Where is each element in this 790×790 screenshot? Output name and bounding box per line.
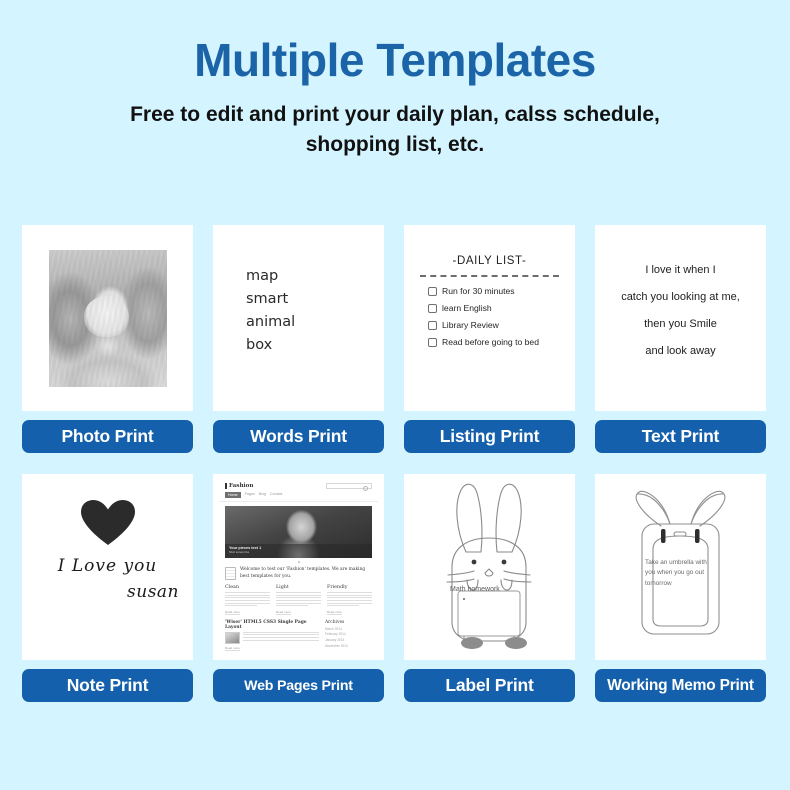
template-cell-working-memo-print: Take an umbrella with you when you go ou… [595,474,766,702]
photo-frame [39,242,176,394]
webpage-bottom-section: 'Wiser' HTML5 CSS3 Single Page Layout Re… [225,620,372,651]
webpage-bottom-heading: 'Wiser' HTML5 CSS3 Single Page Layout [225,620,319,630]
webpage-search-input[interactable] [326,483,372,489]
webpage-logo: Fashion [225,483,253,489]
webpage-bottom-article: 'Wiser' HTML5 CSS3 Single Page Layout Re… [225,620,319,651]
quote-line: then you Smile [603,311,758,338]
preview-card-listing-print[interactable]: -DAILY LIST- Run for 30 minutes learn En… [404,225,575,411]
word-item: smart [246,288,295,311]
listing-print-button[interactable]: Listing Print [404,420,575,453]
template-cell-words-print: map smart animal box Words Print [213,225,384,453]
note-line-1: I Love you [22,556,193,576]
webpage-archive-item[interactable]: March 2014 [325,627,372,631]
preview-card-text-print[interactable]: I love it when I catch you looking at me… [595,225,766,411]
checklist-item-label: Library Review [442,320,499,330]
photo-print-button[interactable]: Photo Print [22,420,193,453]
working-memo-print-button[interactable]: Working Memo Print [595,669,766,702]
webpage-text-placeholder [276,592,321,606]
subtitle-line-1: Free to edit and print your daily plan, … [45,100,745,130]
webpage-feature-heading: Light [276,585,321,590]
webpage-feature-heading: Clean [225,585,270,590]
web-pages-print-button[interactable]: Web Pages Print [213,669,384,702]
webpage-archives: Archives March 2014 February 2014 Januar… [325,620,372,651]
webpage-feature-columns: Clean Read more Light Read more Friendly [225,585,372,615]
daily-list: -DAILY LIST- Run for 30 minutes learn En… [416,255,563,354]
bunny-outline-icon [404,647,575,660]
template-cell-listing-print: -DAILY LIST- Run for 30 minutes learn En… [404,225,575,453]
quote-text: I love it when I catch you looking at me… [603,257,758,365]
webpage-nav-item[interactable]: Home [225,492,241,498]
webpage-text-placeholder [225,592,270,606]
preview-card-words-print[interactable]: map smart animal box [213,225,384,411]
note-print-button[interactable]: Note Print [22,669,193,702]
webpage-article-thumbnail [225,632,240,644]
webpage-text-placeholder [243,632,319,644]
checkbox-icon[interactable] [428,304,437,313]
webpage-hero-title: Your pieces text 1 [229,546,368,550]
checklist-item[interactable]: Read before going to bed [428,337,563,347]
webpage-archives-heading: Archives [325,620,372,625]
webpage-welcome-text: Welcome to test our 'Fashion' templates.… [240,567,372,580]
webpage-text-placeholder [327,592,372,606]
webpage-feature-heading: Friendly [327,585,372,590]
template-cell-label-print: Math homework Label Print [404,474,575,702]
label-text: Math homework [450,586,500,593]
preview-card-working-memo-print[interactable]: Take an umbrella with you when you go ou… [595,474,766,660]
word-item: box [246,334,295,357]
word-item: animal [246,311,295,334]
webpage-nav-item[interactable]: Pages [245,492,255,498]
webpage-read-more-link[interactable]: Read more [225,610,240,615]
quote-line: I love it when I [603,257,758,284]
template-cell-text-print: I love it when I catch you looking at me… [595,225,766,453]
quote-line: and look away [603,338,758,365]
preview-card-photo-print[interactable] [22,225,193,411]
webpage-read-more-link[interactable]: Read more [276,610,291,615]
webpage-read-more-link[interactable]: Read more [327,610,342,615]
checklist-item-label: learn English [442,303,492,313]
webpage-carousel-dot-icon[interactable] [298,561,300,563]
webpage-archive-item[interactable]: January 2014 [325,638,372,642]
checklist-item-label: Run for 30 minutes [442,286,515,296]
checklist-item[interactable]: Library Review [428,320,563,330]
webpage-archive-item[interactable]: December 2013 [325,644,372,648]
preview-card-label-print[interactable]: Math homework [404,474,575,660]
checkbox-icon[interactable] [428,338,437,347]
webpage-welcome-icon [225,567,236,580]
bunny-ears-badge-icon [595,647,766,660]
webpage-mock: Fashion Home Pages Blog Contact Your pie… [219,480,378,654]
checklist-item[interactable]: learn English [428,303,563,313]
webpage-read-more-link[interactable]: Read more [225,646,240,651]
word-item: map [246,265,295,288]
daily-list-title: -DAILY LIST- [416,255,563,267]
words-print-button[interactable]: Words Print [213,420,384,453]
preview-card-web-pages-print[interactable]: Fashion Home Pages Blog Contact Your pie… [213,474,384,660]
webpage-header: Fashion [219,480,378,489]
webpage-feature-column: Clean Read more [225,585,270,615]
webpage-hero-caption: Your pieces text 1 Short excerpt line [225,544,372,558]
memo-text: Take an umbrella with you when you go ou… [645,558,715,589]
webpage-hero-subtitle: Short excerpt line [229,551,368,554]
checklist-item-label: Read before going to bed [442,337,539,347]
text-print-button[interactable]: Text Print [595,420,766,453]
template-cell-web-pages-print: Fashion Home Pages Blog Contact Your pie… [213,474,384,702]
quote-line: catch you looking at me, [603,284,758,311]
page-subtitle: Free to edit and print your daily plan, … [45,100,745,161]
checkbox-icon[interactable] [428,287,437,296]
portrait-photo-icon [49,250,167,387]
heart-icon [81,500,135,551]
words-list: map smart animal box [246,265,295,357]
note-line-2: susan [22,582,179,602]
webpage-nav-item[interactable]: Blog [259,492,266,498]
preview-card-note-print[interactable]: I Love you susan [22,474,193,660]
webpage-nav-item[interactable]: Contact [270,492,282,498]
webpage-archive-item[interactable]: February 2014 [325,632,372,636]
webpage-nav: Home Pages Blog Contact [219,489,378,502]
webpage-feature-column: Friendly Read more [327,585,372,615]
page-title: Multiple Templates [0,0,790,86]
template-cell-photo-print: Photo Print [22,225,193,453]
webpage-feature-column: Light Read more [276,585,321,615]
poster-page: Multiple Templates Free to edit and prin… [0,0,790,790]
checklist-item[interactable]: Run for 30 minutes [428,286,563,296]
dashed-divider [420,275,559,277]
label-print-button[interactable]: Label Print [404,669,575,702]
webpage-welcome-block: Welcome to test our 'Fashion' templates.… [225,567,372,580]
subtitle-line-2: shopping list, etc. [45,130,745,160]
template-grid: Photo Print map smart animal box Words P… [22,225,768,702]
checkbox-icon[interactable] [428,321,437,330]
template-cell-note-print: I Love you susan Note Print [22,474,193,702]
webpage-hero-image: Your pieces text 1 Short excerpt line [225,506,372,558]
